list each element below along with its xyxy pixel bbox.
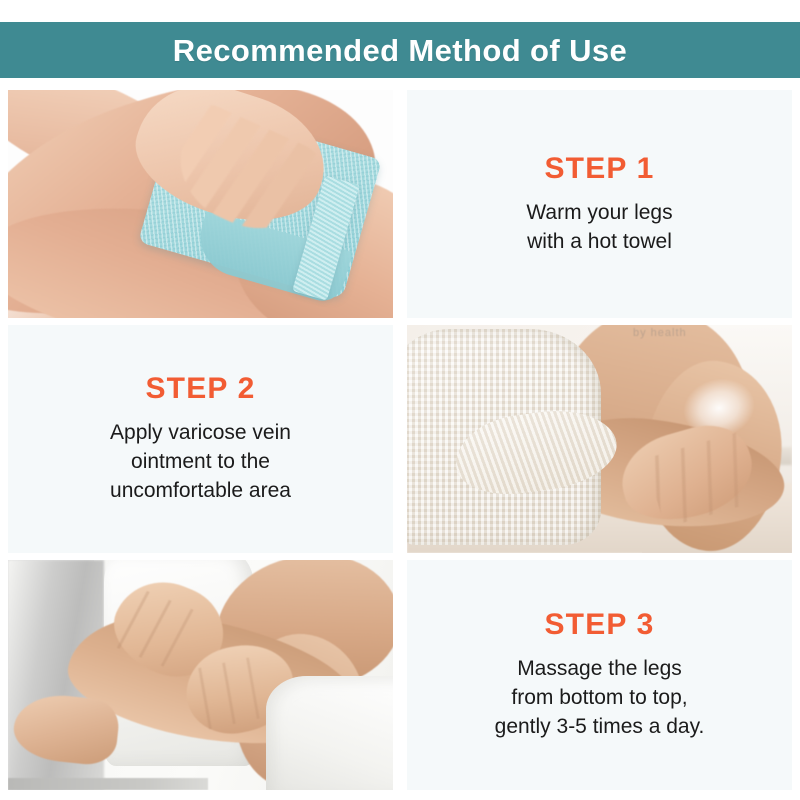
step-1-label: STEP 1 bbox=[544, 152, 654, 185]
step-1-photo-hot-towel bbox=[8, 90, 393, 318]
page-title: Recommended Method of Use bbox=[173, 35, 627, 66]
step-2-label: STEP 2 bbox=[145, 372, 255, 405]
steps-grid: STEP 1 Warm your legs with a hot towel S… bbox=[8, 90, 792, 790]
step-1-description: Warm your legs with a hot towel bbox=[526, 199, 672, 257]
step-3-label: STEP 3 bbox=[544, 608, 654, 641]
step-1-text-panel: STEP 1 Warm your legs with a hot towel bbox=[407, 90, 792, 318]
step-2-description: Apply varicose vein ointment to the unco… bbox=[110, 419, 291, 506]
step-3-photo-leg-massage bbox=[8, 560, 393, 790]
floor-edge-shape bbox=[8, 778, 208, 790]
step-3-text-panel: STEP 3 Massage the legs from bottom to t… bbox=[407, 560, 792, 790]
header-banner: Recommended Method of Use bbox=[0, 22, 800, 78]
white-sheet-shape bbox=[266, 676, 393, 790]
recommended-method-of-use-infographic: Recommended Method of Use STEP 1 Warm yo… bbox=[0, 0, 800, 800]
image-watermark: by health bbox=[633, 327, 783, 343]
step-2-text-panel: STEP 2 Apply varicose vein ointment to t… bbox=[8, 325, 393, 553]
step-2-photo-applying-ointment: by health bbox=[407, 325, 792, 553]
step-3-description: Massage the legs from bottom to top, gen… bbox=[495, 655, 705, 742]
